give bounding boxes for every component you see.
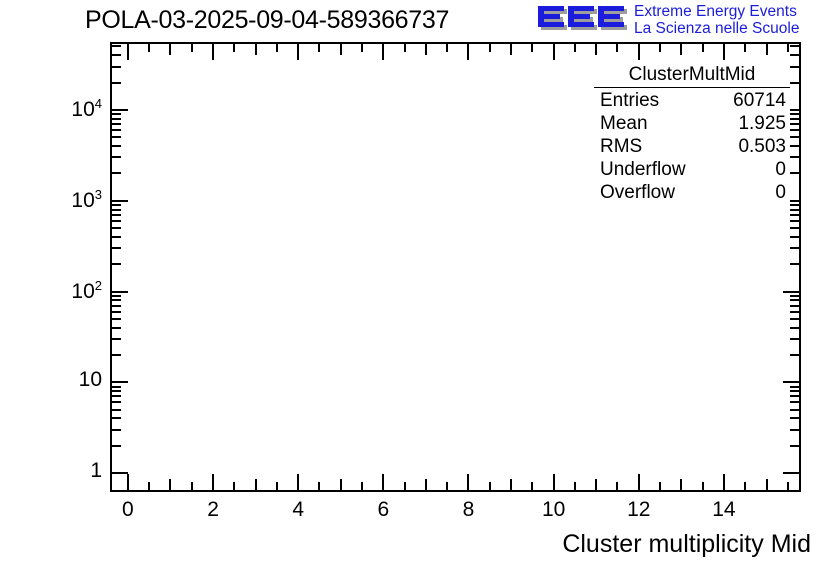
ytick-minor-1-6	[112, 311, 121, 313]
xtick-minor-9.5	[531, 482, 533, 490]
xtick-minor-14.5	[744, 482, 746, 490]
y-tick-label-10: 10	[22, 368, 102, 392]
ytick-minor-3-4	[112, 145, 121, 147]
eee-logo: Extreme Energy Events La Scienza nelle S…	[536, 2, 834, 38]
xtick-minor-3	[255, 479, 257, 490]
ytick-minor-r-1-5	[790, 318, 799, 320]
xtick-minor-t-3	[255, 44, 257, 55]
xtick-minor-t-0.5	[148, 44, 150, 52]
ytick-minor-2-4	[112, 236, 121, 238]
xtick-minor-t-13.5	[702, 44, 704, 52]
xtick-minor-t-11.5	[616, 44, 618, 52]
stats-value-rms: 0.503	[738, 135, 786, 158]
ytick-minor-0-5	[112, 409, 121, 411]
xtick-minor-t-15.5	[787, 44, 789, 52]
xtick-minor-t-13	[680, 44, 682, 55]
ytick-major-r-0-1	[783, 472, 799, 474]
xtick-minor-t-7	[425, 44, 427, 55]
ytick-minor-2-6	[112, 220, 121, 222]
ytick-minor-3-7	[112, 123, 121, 125]
ytick-minor-r-4-4	[790, 54, 799, 56]
ytick-minor-1-3	[112, 338, 121, 340]
ytick-minor-r-1-6	[790, 311, 799, 313]
x-axis-title: Cluster multiplicity Mid	[562, 530, 811, 559]
ytick-major-1-1	[112, 381, 128, 383]
ytick-minor-r-3-4	[790, 145, 799, 147]
x-tick-label-10: 10	[514, 498, 594, 522]
ytick-minor-r-0-5	[790, 409, 799, 411]
y-tick-label-10000: 104	[22, 96, 102, 122]
xtick-minor-t-7.5	[446, 44, 448, 52]
ytick-minor-4-4	[112, 54, 121, 56]
y-tick-label-100: 102	[22, 278, 102, 304]
xtick-major-6	[382, 474, 384, 490]
xtick-minor-t-4.5	[318, 44, 320, 52]
ytick-major-r-1-1	[783, 381, 799, 383]
xtick-minor-11	[595, 479, 597, 490]
stats-header: ClusterMultMid	[594, 64, 790, 88]
xtick-major-t-12	[638, 44, 640, 60]
ytick-minor-r-0-8	[790, 390, 799, 392]
stats-value-entries: 60714	[733, 89, 786, 112]
ytick-major-0-1	[112, 472, 128, 474]
ytick-minor-r-0-4	[790, 417, 799, 419]
ytick-minor-2-5	[112, 227, 121, 229]
xtick-minor-t-6.5	[404, 44, 406, 52]
ytick-minor-r-4-3	[790, 66, 799, 68]
x-tick-label-12: 12	[599, 498, 679, 522]
page-title: POLA-03-2025-09-04-589366737	[85, 6, 449, 35]
ytick-minor-r-3-3	[790, 156, 799, 158]
xtick-minor-t-2.5	[233, 44, 235, 52]
xtick-minor-11.5	[616, 482, 618, 490]
ytick-minor-r-1-9	[790, 295, 799, 297]
xtick-minor-1	[169, 479, 171, 490]
xtick-minor-7	[425, 479, 427, 490]
ytick-minor-4-2	[112, 82, 121, 84]
xtick-major-4	[297, 474, 299, 490]
x-tick-label-4: 4	[258, 498, 338, 522]
ytick-minor-0-9	[112, 386, 121, 388]
xtick-minor-t-10.5	[574, 44, 576, 52]
xtick-minor-t-3.5	[276, 44, 278, 52]
ytick-minor-r-1-2	[790, 354, 799, 356]
stats-value-mean: 1.925	[738, 112, 786, 135]
xtick-minor-t-9.5	[531, 44, 533, 52]
xtick-minor-1.5	[191, 482, 193, 490]
xtick-minor-9	[510, 479, 512, 490]
ytick-major-3-1	[112, 200, 128, 202]
xtick-minor-t-15	[766, 44, 768, 55]
ytick-minor-4-3	[112, 66, 121, 68]
ytick-minor-r-2-5	[790, 227, 799, 229]
xtick-minor-t-9	[510, 44, 512, 55]
ytick-minor-r-2-2	[790, 263, 799, 265]
ytick-minor-2-9	[112, 204, 121, 206]
ytick-minor-2-2	[112, 263, 121, 265]
ytick-minor-1-9	[112, 295, 121, 297]
ytick-minor-r-1-3	[790, 338, 799, 340]
xtick-minor-10.5	[574, 482, 576, 490]
xtick-minor-6.5	[404, 482, 406, 490]
x-tick-label-6: 6	[343, 498, 423, 522]
xtick-minor-12.5	[659, 482, 661, 490]
xtick-minor-5.5	[361, 482, 363, 490]
xtick-major-10	[553, 474, 555, 490]
xtick-major-t-2	[212, 44, 214, 60]
stats-value-overflow: 0	[775, 181, 786, 204]
xtick-minor-t-8.5	[489, 44, 491, 52]
ytick-minor-r-1-7	[790, 305, 799, 307]
x-tick-label-14: 14	[684, 498, 764, 522]
xtick-major-t-0	[127, 44, 129, 60]
ytick-minor-r-3-8	[790, 118, 799, 120]
y-tick-label-1: 1	[22, 459, 102, 483]
stats-value-underflow: 0	[775, 158, 786, 181]
stats-box: ClusterMultMid Entries60714Mean1.925RMS0…	[594, 64, 790, 204]
ytick-minor-r-0-6	[790, 401, 799, 403]
ytick-minor-r-0-3	[790, 429, 799, 431]
ytick-minor-2-7	[112, 214, 121, 216]
xtick-major-t-10	[553, 44, 555, 60]
stats-row-underflow: Underflow0	[594, 158, 790, 181]
ytick-minor-4-5	[112, 45, 121, 47]
ytick-minor-3-3	[112, 156, 121, 158]
ytick-minor-r-3-6	[790, 129, 799, 131]
ytick-minor-1-8	[112, 299, 121, 301]
xtick-minor-t-14.5	[744, 44, 746, 52]
eee-logo-text: Extreme Energy Events La Scienza nelle S…	[634, 3, 799, 37]
ytick-minor-r-3-2	[790, 172, 799, 174]
xtick-minor-5	[340, 479, 342, 490]
ytick-minor-r-2-8	[790, 209, 799, 211]
ytick-minor-r-2-7	[790, 214, 799, 216]
xtick-minor-0.5	[148, 482, 150, 490]
ytick-minor-1-4	[112, 327, 121, 329]
stats-key-mean: Mean	[600, 112, 648, 135]
xtick-minor-t-5.5	[361, 44, 363, 52]
stats-key-underflow: Underflow	[600, 158, 686, 181]
xtick-major-t-4	[297, 44, 299, 60]
xtick-minor-t-11	[595, 44, 597, 55]
xtick-minor-t-1	[169, 44, 171, 55]
ytick-minor-2-3	[112, 247, 121, 249]
eee-logo-line2: La Scienza nelle Scuole	[634, 20, 799, 37]
ytick-minor-3-8	[112, 118, 121, 120]
ytick-minor-3-2	[112, 172, 121, 174]
xtick-minor-3.5	[276, 482, 278, 490]
xtick-minor-t-5	[340, 44, 342, 55]
ytick-minor-r-3-5	[790, 136, 799, 138]
stats-key-entries: Entries	[600, 89, 659, 112]
ytick-minor-0-3	[112, 429, 121, 431]
xtick-minor-2.5	[233, 482, 235, 490]
xtick-major-8	[467, 474, 469, 490]
xtick-minor-13.5	[702, 482, 704, 490]
stats-key-rms: RMS	[600, 135, 642, 158]
eee-logo-line1: Extreme Energy Events	[634, 3, 799, 20]
y-tick-label-1000: 103	[22, 187, 102, 213]
ytick-minor-0-2	[112, 445, 121, 447]
xtick-minor-13	[680, 479, 682, 490]
ytick-minor-r-0-9	[790, 386, 799, 388]
ytick-minor-r-2-4	[790, 236, 799, 238]
ytick-minor-1-7	[112, 305, 121, 307]
stats-row-mean: Mean1.925	[594, 112, 790, 135]
xtick-major-12	[638, 474, 640, 490]
eee-logo-mark	[536, 2, 628, 36]
ytick-minor-r-2-6	[790, 220, 799, 222]
xtick-minor-15	[766, 479, 768, 490]
ytick-minor-r-1-8	[790, 299, 799, 301]
xtick-minor-7.5	[446, 482, 448, 490]
ytick-minor-r-4-5	[790, 45, 799, 47]
stats-key-overflow: Overflow	[600, 181, 675, 204]
xtick-minor-4.5	[318, 482, 320, 490]
ytick-minor-0-4	[112, 417, 121, 419]
xtick-major-2	[212, 474, 214, 490]
ytick-minor-3-6	[112, 129, 121, 131]
xtick-major-14	[723, 474, 725, 490]
stats-row-entries: Entries60714	[594, 89, 790, 112]
xtick-minor-8.5	[489, 482, 491, 490]
stats-row-rms: RMS0.503	[594, 135, 790, 158]
ytick-minor-r-0-7	[790, 395, 799, 397]
ytick-minor-r-1-4	[790, 327, 799, 329]
ytick-minor-1-2	[112, 354, 121, 356]
ytick-major-2-1	[112, 291, 128, 293]
ytick-minor-3-9	[112, 113, 121, 115]
ytick-major-r-2-1	[783, 291, 799, 293]
ytick-minor-0-8	[112, 390, 121, 392]
ytick-minor-0-6	[112, 401, 121, 403]
ytick-minor-r-3-7	[790, 123, 799, 125]
ytick-minor-0-7	[112, 395, 121, 397]
ytick-minor-r-2-9	[790, 204, 799, 206]
plot-canvas: POLA-03-2025-09-04-589366737	[0, 0, 836, 572]
xtick-minor-15.5	[787, 482, 789, 490]
xtick-major-0	[127, 474, 129, 490]
xtick-major-t-8	[467, 44, 469, 60]
xtick-major-t-6	[382, 44, 384, 60]
ytick-minor-r-4-2	[790, 82, 799, 84]
ytick-minor-r-2-3	[790, 247, 799, 249]
x-tick-label-8: 8	[428, 498, 508, 522]
ytick-minor-r-0-2	[790, 445, 799, 447]
xtick-minor-t-1.5	[191, 44, 193, 52]
ytick-major-4-1	[112, 109, 128, 111]
ytick-minor-3-5	[112, 136, 121, 138]
xtick-major-t-14	[723, 44, 725, 60]
ytick-minor-1-5	[112, 318, 121, 320]
stats-rows: Entries60714Mean1.925RMS0.503Underflow0O…	[594, 89, 790, 204]
x-tick-label-2: 2	[173, 498, 253, 522]
ytick-minor-r-3-9	[790, 113, 799, 115]
xtick-minor-t-12.5	[659, 44, 661, 52]
stats-row-overflow: Overflow0	[594, 181, 790, 204]
x-tick-label-0: 0	[88, 498, 168, 522]
ytick-minor-2-8	[112, 209, 121, 211]
